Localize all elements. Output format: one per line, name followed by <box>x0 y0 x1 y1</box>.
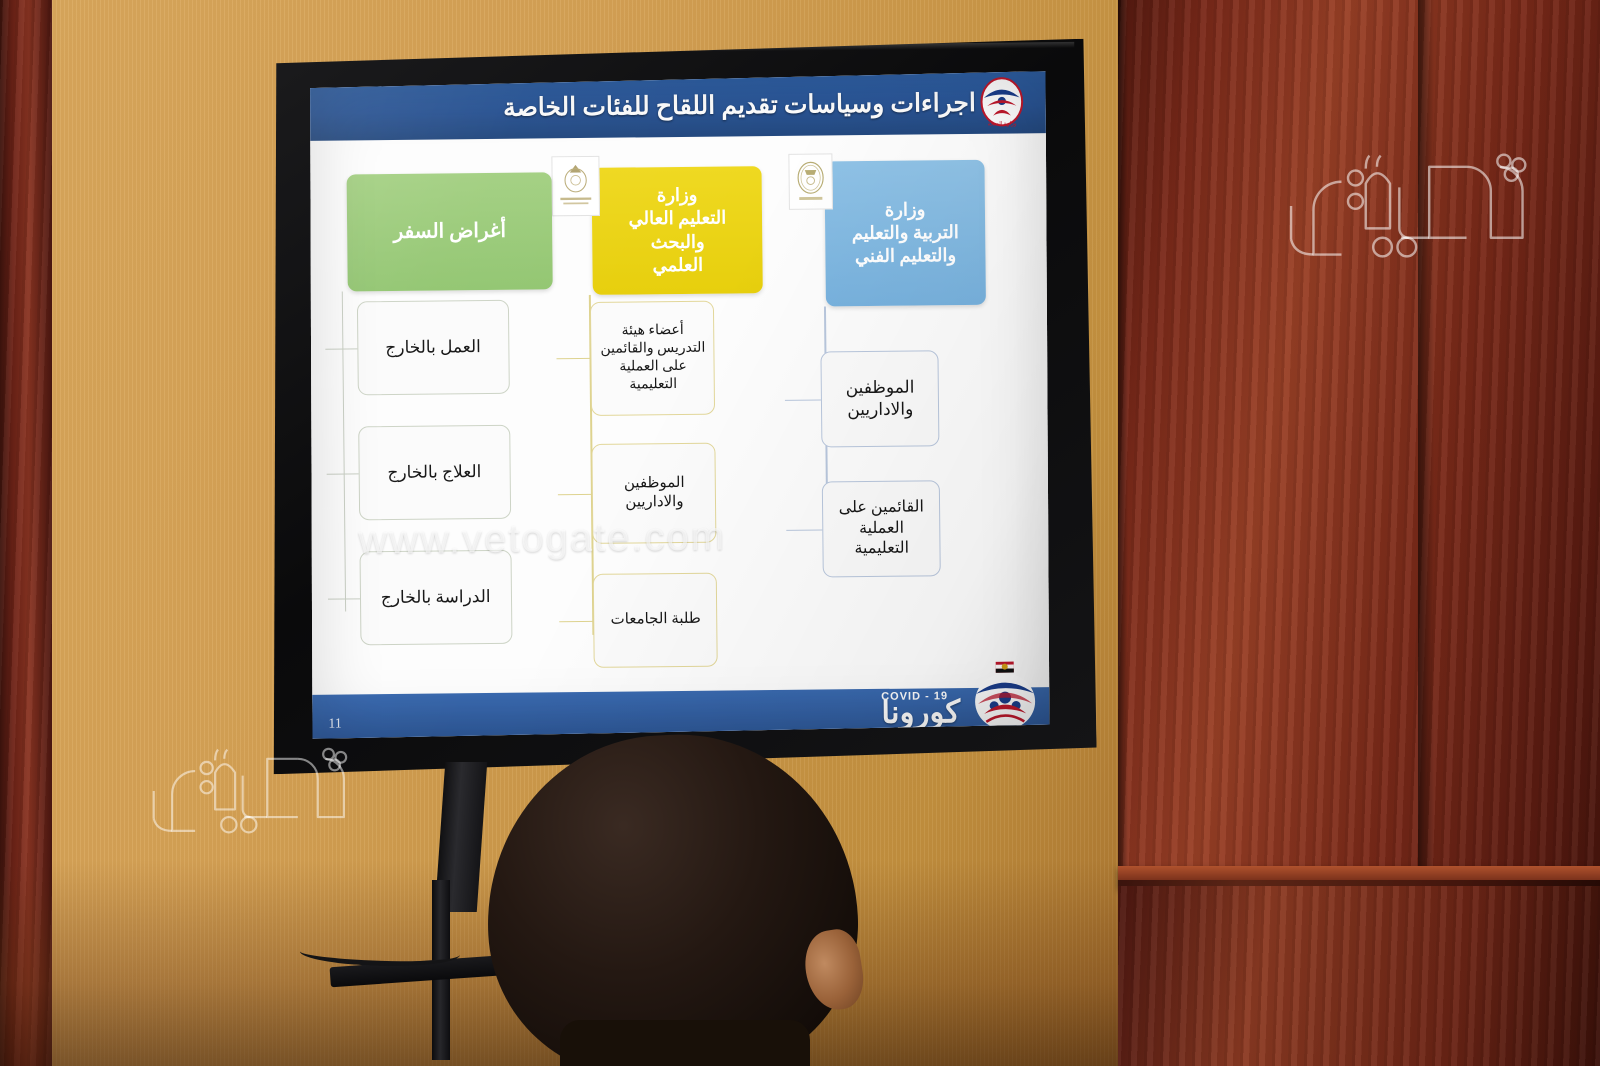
child-line: الدراسة بالخارج <box>381 586 491 609</box>
child-line: التدريس والقائمين <box>600 340 705 359</box>
child-line: التعليمية <box>601 376 706 395</box>
audience-member-neck <box>560 1020 810 1066</box>
child-box-education-1[interactable]: القائمين على العملية التعليمية <box>822 480 941 577</box>
child-line: طلبة الجامعات <box>611 610 701 630</box>
column-higher-education: وزارة التعليم العالي والبحث العلمي <box>563 152 796 664</box>
ministry-of-health-logo-icon: وزارة الصحة <box>976 76 1029 129</box>
header-line: وزارة <box>602 184 752 209</box>
child-line: الموظفين <box>624 473 685 493</box>
child-line: على العملية <box>601 358 706 377</box>
child-line: القائمين على <box>831 497 931 519</box>
child-box-travel-0[interactable]: العمل بالخارج <box>357 300 510 396</box>
child-line: الموظفين <box>846 376 915 399</box>
connector-branch <box>325 348 357 350</box>
child-line: أعضاء هيئة <box>600 321 705 340</box>
header-line: العلمي <box>603 253 753 278</box>
header-line: التربية والتعليم <box>852 221 959 245</box>
column-travel: أغراض السفر العمل بالخارج <box>335 154 568 666</box>
child-box-travel-2[interactable]: الدراسة بالخارج <box>359 550 512 646</box>
connector-branch <box>328 598 360 600</box>
child-box-higher-education-2[interactable]: طلبة الجامعات <box>593 573 718 668</box>
header-line: أغراض السفر <box>393 219 506 246</box>
header-line: وزارة <box>851 198 958 222</box>
presentation-slide: اجراءات وسياسات تقديم اللقاح للفئات الخا… <box>306 71 1053 739</box>
child-line: العملية التعليمية <box>831 518 931 561</box>
svg-text:وزارة الصحة: وزارة الصحة <box>987 120 1016 127</box>
corona-brand: كورونا <box>881 694 960 731</box>
header-box-higher-education[interactable]: وزارة التعليم العالي والبحث العلمي <box>592 166 763 295</box>
child-line: والاداريين <box>846 399 915 422</box>
connector-branch <box>326 473 358 475</box>
slide-body: وزارة التربية والتعليم والتعليم الفني <box>306 133 1051 667</box>
header-line: التعليم العالي والبحث <box>602 207 752 255</box>
child-box-travel-1[interactable]: العلاج بالخارج <box>358 425 511 521</box>
slide-title: اجراءات وسياسات تقديم اللقاح للفئات الخا… <box>503 88 976 123</box>
child-line: العلاج بالخارج <box>387 461 481 484</box>
header-box-education[interactable]: وزارة التربية والتعليم والتعليم الفني <box>825 160 987 307</box>
connector-travel-trunk <box>342 292 347 612</box>
header-box-travel[interactable]: أغراض السفر <box>347 172 553 291</box>
tv-screen[interactable]: اجراءات وسياسات تقديم اللقاح للفئات الخا… <box>306 71 1053 739</box>
slide-number: 11 <box>328 717 342 733</box>
television-display[interactable]: اجراءات وسياسات تقديم اللقاح للفئات الخا… <box>261 39 1097 775</box>
wood-baseboard <box>1118 880 1600 1066</box>
ministry-emblem-icon <box>791 156 832 206</box>
child-box-higher-education-1[interactable]: الموظفين والاداريين <box>592 443 717 544</box>
ministry-of-health-footer-logo-icon <box>972 661 1039 732</box>
child-line: والاداريين <box>624 493 685 513</box>
child-box-education-0[interactable]: الموظفين والاداريين <box>821 350 940 447</box>
header-line: والتعليم الفني <box>852 244 959 268</box>
org-chart: وزارة التربية والتعليم والتعليم الفني <box>306 133 1051 667</box>
child-line: العمل بالخارج <box>385 336 481 359</box>
column-education: وزارة التربية والتعليم والتعليم الفني <box>791 149 1024 661</box>
ministry-of-education-badge <box>788 153 833 209</box>
child-box-higher-education-0[interactable]: أعضاء هيئة التدريس والقائمين على العملية… <box>590 301 715 416</box>
